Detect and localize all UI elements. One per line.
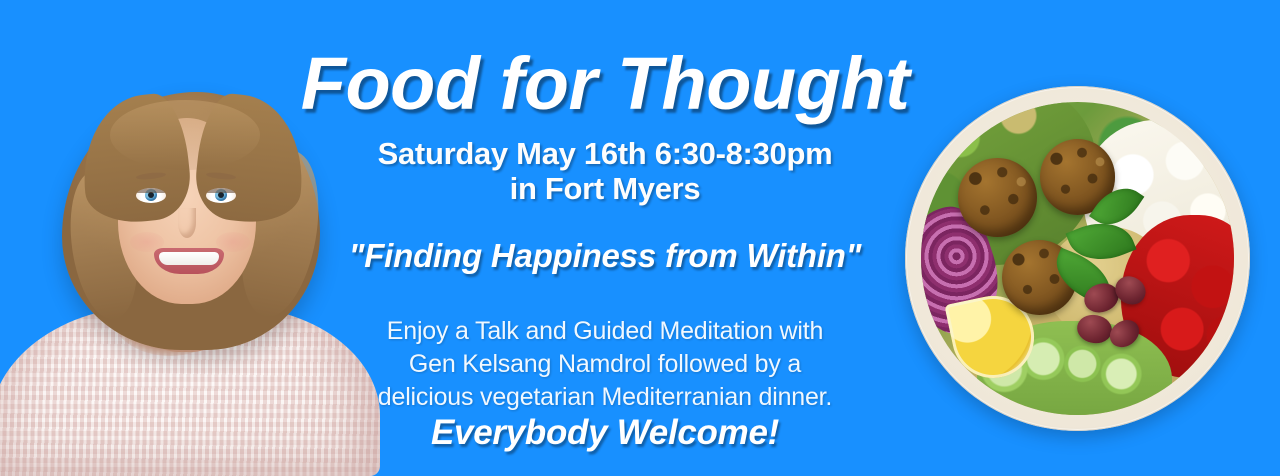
page-title: Food for Thought <box>290 47 920 121</box>
teeth <box>159 252 219 265</box>
eyelash-right <box>206 188 236 193</box>
talk-title-quote: "Finding Happiness from Within" <box>305 237 905 275</box>
hair-top-wave <box>110 100 260 170</box>
mediterranean-falafel-bowl <box>905 86 1250 431</box>
welcome-callout: Everybody Welcome! <box>310 413 900 453</box>
description-line-3: delicious vegetarian Mediterranian dinne… <box>310 381 900 414</box>
event-description: Enjoy a Talk and Guided Meditation with … <box>310 315 900 414</box>
event-location: in Fort Myers <box>310 171 900 207</box>
description-line-1: Enjoy a Talk and Guided Meditation with <box>310 315 900 348</box>
bowl-dish <box>905 86 1250 431</box>
nose <box>178 208 196 238</box>
eyelash-left <box>136 188 166 193</box>
event-date-time: Saturday May 16th 6:30-8:30pm <box>310 136 900 172</box>
eye-left <box>136 188 166 203</box>
eye-right <box>206 188 236 203</box>
event-flyer: Food for Thought Saturday May 16th 6:30-… <box>0 0 1280 476</box>
text-column: Food for Thought Saturday May 16th 6:30-… <box>310 0 900 476</box>
food-contents <box>921 102 1235 416</box>
falafel-ball <box>958 158 1036 236</box>
description-line-2: Gen Kelsang Namdrol followed by a <box>310 348 900 381</box>
